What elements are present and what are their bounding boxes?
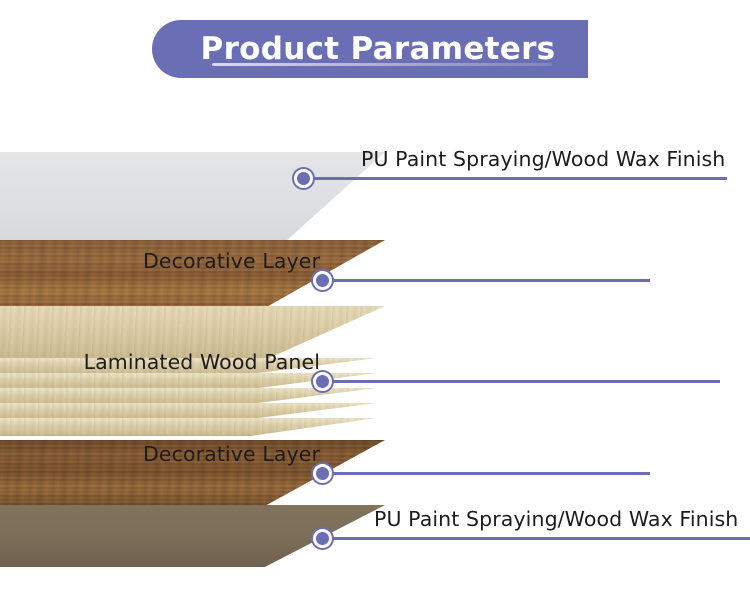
product-parameters-infographic: Product Parameters PU Paint Spraying/Woo… (0, 0, 750, 589)
callout-leader-line (303, 177, 727, 180)
callout-leader-line (322, 380, 720, 383)
callout-marker-icon (313, 529, 332, 548)
callout-leader-line (322, 472, 650, 475)
callout-marker-icon (313, 464, 332, 483)
callout-label: Laminated Wood Panel (84, 350, 320, 374)
layer-veneer-ply-5 (0, 418, 377, 436)
callout-label: PU Paint Spraying/Wood Wax Finish (374, 507, 738, 531)
callout-marker-icon (313, 372, 332, 391)
callout-marker-icon (313, 271, 332, 290)
callout-label: Decorative Layer (143, 249, 320, 273)
callout-leader-line (322, 537, 750, 540)
callout-label: Decorative Layer (143, 442, 320, 466)
layer-veneer-ply-4 (0, 403, 377, 419)
callout-leader-line (322, 279, 650, 282)
callout-label: PU Paint Spraying/Wood Wax Finish (361, 147, 725, 171)
panel-stack-illustration (0, 0, 430, 589)
callout-marker-icon (294, 169, 313, 188)
